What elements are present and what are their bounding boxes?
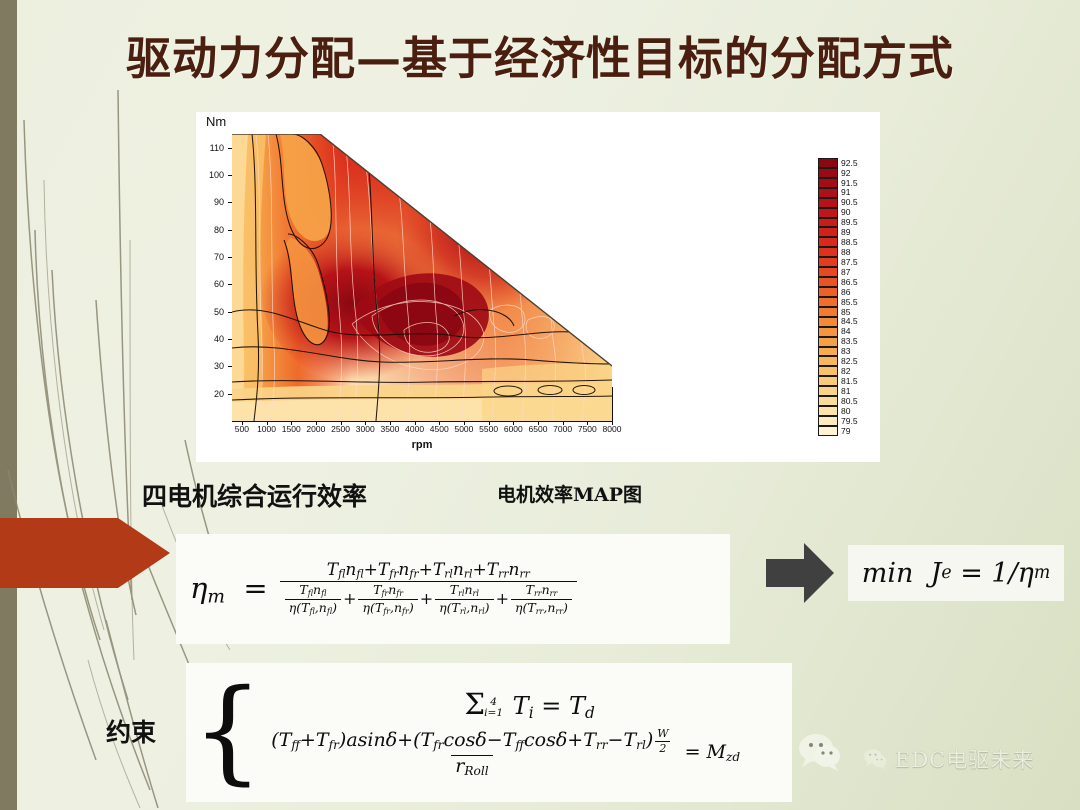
- formula-efficiency-lhs: ηm =: [190, 571, 268, 608]
- colorbar-row: 84: [818, 327, 880, 337]
- left-red-arrow: [0, 512, 170, 594]
- constraint-brace: {: [192, 689, 263, 773]
- y-tick-label: 60: [198, 279, 224, 289]
- colorbar-legend: 92.59291.59190.59089.58988.58887.58786.5…: [818, 158, 880, 436]
- colorbar-swatch: [818, 327, 838, 337]
- colorbar-tick-label: 85: [838, 308, 850, 317]
- colorbar-row: 92.5: [818, 158, 880, 168]
- colorbar-row: 85.5: [818, 297, 880, 307]
- colorbar-swatch: [818, 406, 838, 416]
- watermark-text: EDC电驱未来: [895, 744, 1034, 774]
- colorbar-tick-label: 92.5: [838, 159, 858, 168]
- den-term-fr: Tfrnfr η(Tfr,nfr): [358, 583, 417, 617]
- colorbar-row: 85: [818, 307, 880, 317]
- colorbar-tick-label: 91: [838, 188, 850, 197]
- x-axis-title: rpm: [412, 439, 433, 451]
- colorbar-tick-label: 88: [838, 248, 850, 257]
- colorbar-swatch: [818, 188, 838, 198]
- colorbar-swatch: [818, 376, 838, 386]
- colorbar-tick-label: 80.5: [838, 397, 858, 406]
- formula-constraint-box: { Σ4i=1 Ti = Td (Tff+Tfr)asinδ+(Tfrcosδ−…: [186, 663, 792, 802]
- x-tick-mark: [291, 421, 292, 425]
- colorbar-tick-label: 89: [838, 228, 850, 237]
- x-tick-label: 7500: [578, 424, 597, 434]
- colorbar-row: 86.5: [818, 277, 880, 287]
- colorbar-tick-label: 89.5: [838, 218, 858, 227]
- y-tick-label: 20: [198, 389, 224, 399]
- formula-efficiency-numerator: Tflnfl+Tfrnfr+Trlnrl+Trrnrr: [323, 562, 534, 581]
- colorbar-row: 83: [818, 347, 880, 357]
- formula-efficiency-fraction: Tflnfl+Tfrnfr+Trlnrl+Trrnrr Tflnfl η(Tfl…: [280, 562, 577, 617]
- x-axis-line: [232, 421, 612, 422]
- y-tick-label: 80: [198, 225, 224, 235]
- colorbar-swatch: [818, 297, 838, 307]
- colorbar-tick-label: 80: [838, 407, 850, 416]
- y-tick-label: 30: [198, 361, 224, 371]
- efficiency-map-chart: Nm 2030405060708090100110: [196, 112, 880, 462]
- x-tick-label: 3000: [356, 424, 375, 434]
- x-tick-mark: [316, 421, 317, 425]
- slide-canvas: 驱动力分配—基于经济性目标的分配方式 Nm 203040506070809010…: [0, 0, 1080, 810]
- colorbar-row: 79.5: [818, 416, 880, 426]
- x-tick-label: 3500: [380, 424, 399, 434]
- formula-efficiency-denominator: Tflnfl η(Tfl,nfl) + Tfrnfr η(Tfr,nfr) + …: [280, 581, 577, 617]
- colorbar-tick-label: 81.5: [838, 377, 858, 386]
- colorbar-tick-label: 83: [838, 347, 850, 356]
- x-tick-label: 500: [235, 424, 249, 434]
- x-tick-mark: [267, 421, 268, 425]
- y-tick-label: 100: [198, 170, 224, 180]
- x-tick-mark: [489, 421, 490, 425]
- x-tick-mark: [538, 421, 539, 425]
- colorbar-swatch: [818, 416, 838, 426]
- colorbar-swatch: [818, 267, 838, 277]
- colorbar-row: 90.5: [818, 198, 880, 208]
- x-tick-label: 8000: [603, 424, 622, 434]
- colorbar-swatch: [818, 247, 838, 257]
- colorbar-tick-label: 86.5: [838, 278, 858, 287]
- page-title: 驱动力分配—基于经济性目标的分配方式: [0, 22, 1080, 87]
- x-tick-mark: [242, 421, 243, 425]
- colorbar-swatch: [818, 307, 838, 317]
- colorbar-row: 82.5: [818, 356, 880, 366]
- colorbar-swatch: [818, 208, 838, 218]
- x-tick-mark: [513, 421, 514, 425]
- colorbar-row: 91: [818, 188, 880, 198]
- x-tick-mark: [341, 421, 342, 425]
- colorbar-tick-label: 79.5: [838, 417, 858, 426]
- watermark: EDC电驱未来: [862, 744, 1034, 774]
- colorbar-row: 87: [818, 267, 880, 277]
- colorbar-tick-label: 83.5: [838, 337, 858, 346]
- constraint-denominator: rRoll: [451, 755, 492, 778]
- wechat-logo-icon: [862, 746, 888, 772]
- colorbar-swatch: [818, 168, 838, 178]
- colorbar-swatch: [818, 218, 838, 228]
- colorbar-tick-label: 91.5: [838, 179, 858, 188]
- colorbar-row: 80: [818, 406, 880, 416]
- y-tick-label: 90: [198, 197, 224, 207]
- colorbar-swatch: [818, 257, 838, 267]
- colorbar-row: 81: [818, 386, 880, 396]
- x-tick-label: 5000: [454, 424, 473, 434]
- colorbar-swatch: [818, 366, 838, 376]
- x-tick-label: 7000: [553, 424, 572, 434]
- wechat-overlay-icon: [794, 727, 842, 775]
- caption-four-motor-efficiency: 四电机综合运行效率: [142, 477, 367, 513]
- colorbar-tick-label: 79: [838, 427, 850, 436]
- den-term-fl: Tflnfl η(Tfl,nfl): [285, 583, 341, 617]
- colorbar-swatch: [818, 158, 838, 168]
- y-tick-label: 70: [198, 252, 224, 262]
- colorbar-tick-label: 85.5: [838, 298, 858, 307]
- y-tick-label: 50: [198, 307, 224, 317]
- y-axis-unit-label: Nm: [206, 114, 226, 129]
- colorbar-row: 91.5: [818, 178, 880, 188]
- x-tick-label: 2500: [331, 424, 350, 434]
- colorbar-swatch: [818, 337, 838, 347]
- colorbar-swatch: [818, 386, 838, 396]
- y-tick-label: 40: [198, 334, 224, 344]
- den-term-rl: Trlnrl η(Trl,nrl): [435, 583, 493, 617]
- colorbar-swatch: [818, 237, 838, 247]
- colorbar-swatch: [818, 287, 838, 297]
- x-tick-label: 2000: [306, 424, 325, 434]
- constraint-line-1: Σ4i=1 Ti = Td: [267, 687, 792, 728]
- x-tick-mark: [415, 421, 416, 425]
- colorbar-row: 80.5: [818, 396, 880, 406]
- x-tick-label: 4500: [430, 424, 449, 434]
- colorbar-row: 88.5: [818, 237, 880, 247]
- formula-objective-box: min Je = 1/ηm: [848, 545, 1064, 601]
- x-tick-mark: [563, 421, 564, 425]
- colorbar-row: 83.5: [818, 337, 880, 347]
- colorbar-row: 86: [818, 287, 880, 297]
- colorbar-row: 84.5: [818, 317, 880, 327]
- colorbar-swatch: [818, 198, 838, 208]
- colorbar-tick-label: 82: [838, 367, 850, 376]
- colorbar-swatch: [818, 317, 838, 327]
- colorbar-swatch: [818, 426, 838, 436]
- right-gray-arrow: [764, 537, 836, 609]
- colorbar-tick-label: 82.5: [838, 357, 858, 366]
- den-term-rr: Trrnrr η(Trr,nrr): [511, 583, 572, 617]
- x-tick-label: 5500: [479, 424, 498, 434]
- colorbar-swatch: [818, 356, 838, 366]
- colorbar-row: 79: [818, 426, 880, 436]
- constraint-numerator: (Tff+Tfr)asinδ+(Tfrcosδ−Tffcosδ+Trr−Trl)…: [267, 728, 676, 755]
- colorbar-tick-label: 84.5: [838, 317, 858, 326]
- colorbar-tick-label: 90.5: [838, 198, 858, 207]
- colorbar-row: 89: [818, 227, 880, 237]
- colorbar-row: 87.5: [818, 257, 880, 267]
- x-tick-label: 4000: [405, 424, 424, 434]
- x-tick-mark: [390, 421, 391, 425]
- constraint-line-2: (Tff+Tfr)asinδ+(Tfrcosδ−Tffcosδ+Trr−Trl)…: [267, 728, 792, 778]
- left-accent-bar: [0, 0, 17, 810]
- y-tick-label: 110: [198, 143, 224, 153]
- x-tick-label: 1000: [257, 424, 276, 434]
- constraint-fraction: (Tff+Tfr)asinδ+(Tfrcosδ−Tffcosδ+Trr−Trl)…: [267, 728, 676, 778]
- colorbar-swatch: [818, 277, 838, 287]
- colorbar-row: 92: [818, 168, 880, 178]
- colorbar-tick-label: 84: [838, 327, 850, 336]
- colorbar-row: 90: [818, 208, 880, 218]
- colorbar-tick-label: 81: [838, 387, 850, 396]
- colorbar-tick-label: 87: [838, 268, 850, 277]
- formula-efficiency-box: ηm = Tflnfl+Tfrnfr+Trlnrl+Trrnrr Tflnfl …: [176, 534, 730, 644]
- right-axis-line: [612, 387, 613, 421]
- colorbar-row: 82: [818, 366, 880, 376]
- x-tick-mark: [587, 421, 588, 425]
- colorbar-row: 88: [818, 247, 880, 257]
- x-tick-label: 1500: [282, 424, 301, 434]
- colorbar-tick-label: 90: [838, 208, 850, 217]
- colorbar-row: 81.5: [818, 376, 880, 386]
- x-tick-mark: [612, 421, 613, 425]
- x-tick-mark: [365, 421, 366, 425]
- colorbar-tick-label: 87.5: [838, 258, 858, 267]
- colorbar-swatch: [818, 227, 838, 237]
- caption-motor-efficiency-map: 电机效率MAP图: [497, 480, 642, 507]
- colorbar-tick-label: 88.5: [838, 238, 858, 247]
- colorbar-swatch: [818, 347, 838, 357]
- x-tick-mark: [439, 421, 440, 425]
- colorbar-swatch: [818, 396, 838, 406]
- colorbar-tick-label: 92: [838, 169, 850, 178]
- caption-constraint: 约束: [106, 713, 156, 749]
- formula-objective: min Je = 1/ηm: [848, 545, 1064, 601]
- x-tick-label: 6500: [529, 424, 548, 434]
- x-tick-mark: [464, 421, 465, 425]
- colorbar-row: 89.5: [818, 218, 880, 228]
- colorbar-swatch: [818, 178, 838, 188]
- plot-area: [232, 134, 612, 421]
- colorbar-tick-label: 86: [838, 288, 850, 297]
- x-tick-label: 6000: [504, 424, 523, 434]
